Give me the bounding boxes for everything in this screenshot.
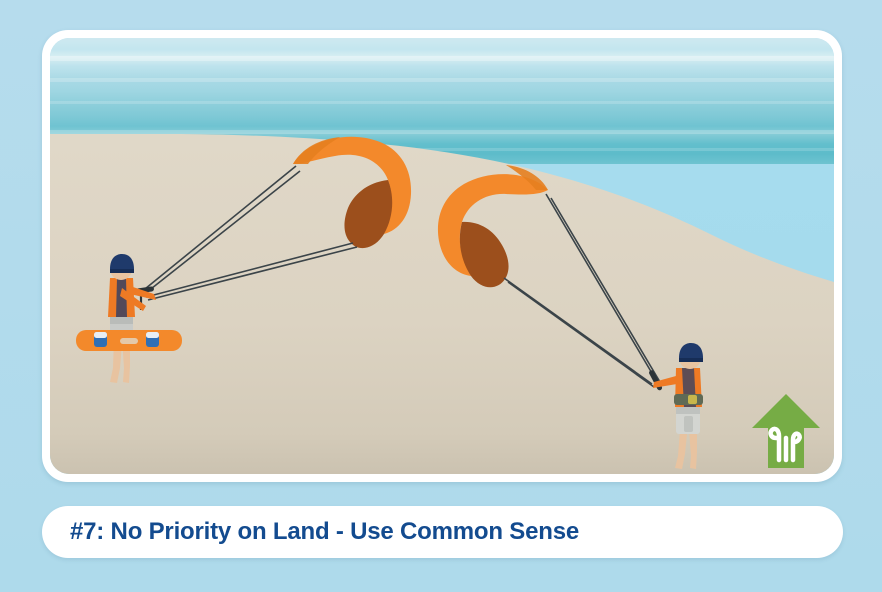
rider-left [76,254,182,383]
kite-lines-left [140,166,357,300]
rider-right [653,343,703,469]
page-root: #7: No Priority on Land - Use Common Sen… [0,0,882,592]
kite-right [438,165,548,287]
illustration-canvas [50,38,834,474]
kite-left [293,137,411,248]
green-arrow-logo [750,392,822,470]
caption-bar: #7: No Priority on Land - Use Common Sen… [42,506,843,558]
kite-scene [50,38,834,474]
illustration-card [42,30,842,482]
kite-lines-right [504,194,660,387]
caption-text: #7: No Priority on Land - Use Common Sen… [70,518,579,546]
